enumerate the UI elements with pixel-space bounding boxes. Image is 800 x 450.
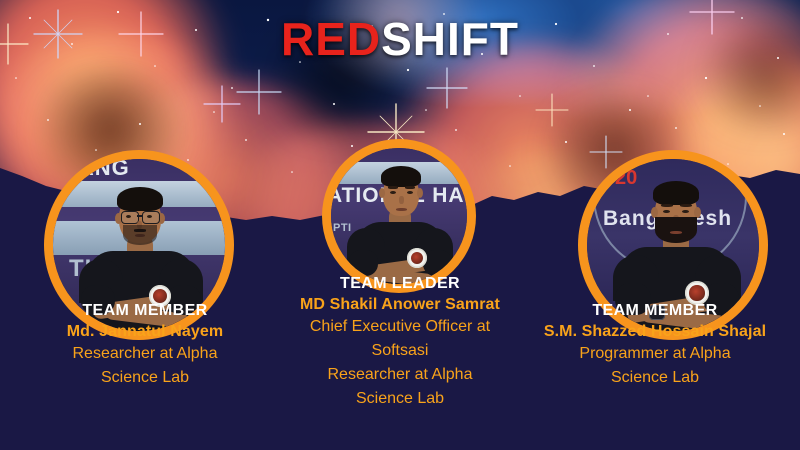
- backdrop-text-1: 20: [615, 167, 637, 190]
- title-red-part: RED: [281, 13, 381, 65]
- member-desc-center-line2: Softsasi: [255, 339, 545, 363]
- member-role-left: TEAM MEMBER: [0, 300, 290, 321]
- member-desc-left-line2: Science Lab: [0, 366, 290, 390]
- member-desc-right-line2: Science Lab: [510, 366, 800, 390]
- caption-right: TEAM MEMBER S.M. Shazzed Hossain Shajal …: [510, 300, 800, 390]
- member-role-center: TEAM LEADER: [255, 273, 545, 294]
- tshirt-badge: [407, 248, 427, 268]
- member-desc-center-line1: Chief Executive Officer at: [255, 315, 545, 339]
- avatar[interactable]: ATIONAL HA PTI: [322, 139, 476, 293]
- caption-center: TEAM LEADER MD Shakil Anower Samrat Chie…: [255, 273, 545, 411]
- title-white-part: SHIFT: [381, 13, 519, 65]
- photo-center: ATIONAL HA PTI: [331, 148, 467, 284]
- member-role-right: TEAM MEMBER: [510, 300, 800, 321]
- member-desc-right-line1: Programmer at Alpha: [510, 342, 800, 366]
- backdrop-text-1: BANG: [61, 159, 130, 181]
- member-desc-center-line3: Researcher at Alpha: [255, 363, 545, 387]
- page-title: REDSHIFT: [0, 13, 800, 65]
- member-desc-left-line1: Researcher at Alpha: [0, 342, 290, 366]
- avatar-photo-frame: ATIONAL HA PTI: [331, 148, 467, 284]
- backdrop-text-2: PTI: [333, 222, 352, 234]
- member-name-right: S.M. Shazzed Hossain Shajal: [510, 321, 800, 342]
- member-desc-center-line4: Science Lab: [255, 387, 545, 411]
- member-name-left: Md. Jannatul Nayem: [0, 321, 290, 342]
- member-name-center: MD Shakil Anower Samrat: [255, 294, 545, 315]
- team-poster: REDSHIFT BANG TION: [0, 0, 800, 450]
- caption-left: TEAM MEMBER Md. Jannatul Nayem Researche…: [0, 300, 290, 390]
